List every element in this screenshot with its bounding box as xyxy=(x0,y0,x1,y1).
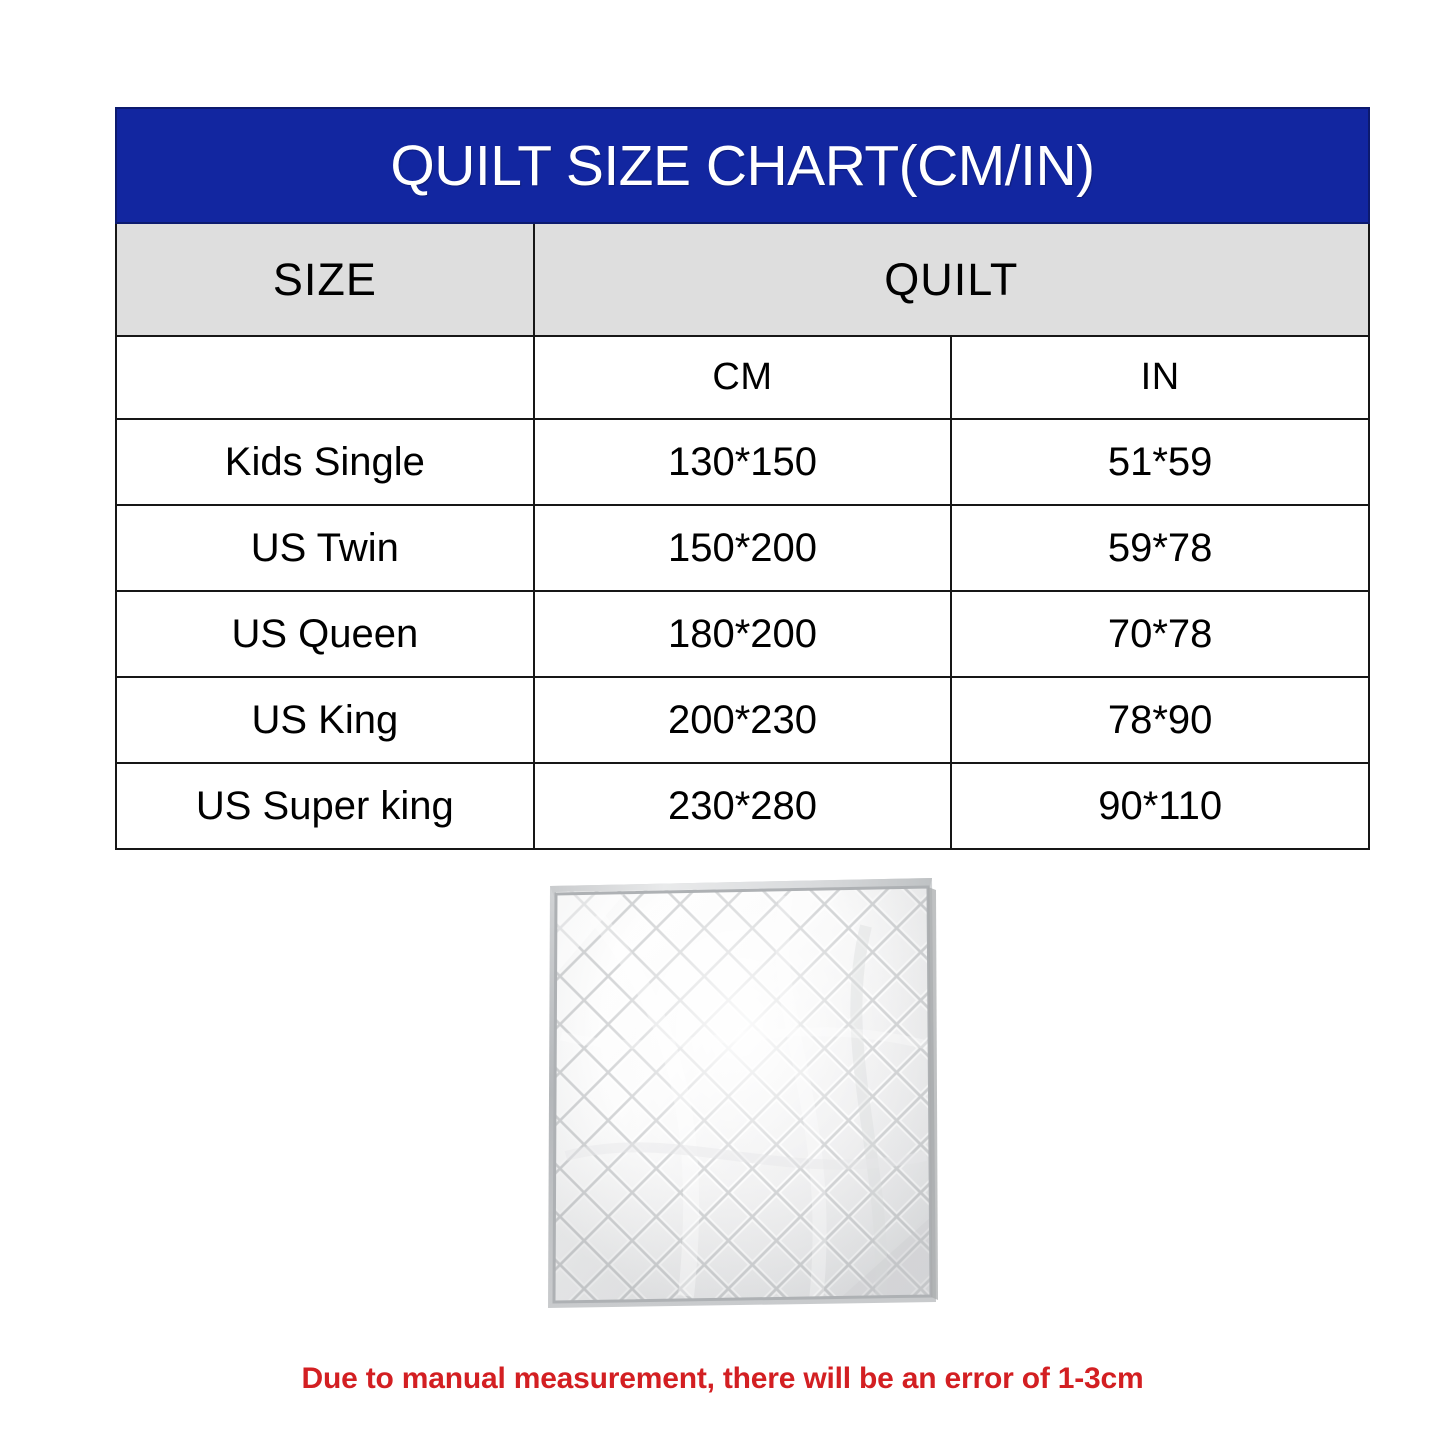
cell-cm: 180*200 xyxy=(534,591,952,677)
cell-in: 90*110 xyxy=(951,763,1369,849)
table-title-row: QUILT SIZE CHART(CM/IN) xyxy=(116,108,1369,223)
cell-size: US Twin xyxy=(116,505,534,591)
quilt-product-image xyxy=(536,856,944,1316)
column-header-quilt: QUILT xyxy=(534,223,1369,336)
column-header-in: IN xyxy=(951,336,1369,419)
cell-in: 78*90 xyxy=(951,677,1369,763)
table-row: US King 200*230 78*90 xyxy=(116,677,1369,763)
quilt-illustration xyxy=(536,856,944,1316)
table-group-header-row: SIZE QUILT xyxy=(116,223,1369,336)
table-row: US Super king 230*280 90*110 xyxy=(116,763,1369,849)
cell-size: US Super king xyxy=(116,763,534,849)
table-unit-header-row: CM IN xyxy=(116,336,1369,419)
cell-cm: 230*280 xyxy=(534,763,952,849)
quilt-size-chart-table: QUILT SIZE CHART(CM/IN) SIZE QUILT CM IN… xyxy=(115,107,1370,850)
size-chart-page: QUILT SIZE CHART(CM/IN) SIZE QUILT CM IN… xyxy=(0,0,1445,1445)
cell-in: 59*78 xyxy=(951,505,1369,591)
quilt-face xyxy=(536,856,944,1316)
chart-title: QUILT SIZE CHART(CM/IN) xyxy=(116,108,1369,223)
column-header-cm: CM xyxy=(534,336,952,419)
cell-cm: 130*150 xyxy=(534,419,952,505)
measurement-disclaimer: Due to manual measurement, there will be… xyxy=(0,1362,1445,1396)
cell-cm: 150*200 xyxy=(534,505,952,591)
cell-cm: 200*230 xyxy=(534,677,952,763)
cell-size: US Queen xyxy=(116,591,534,677)
column-header-size: SIZE xyxy=(116,223,534,336)
cell-in: 51*59 xyxy=(951,419,1369,505)
table-row: Kids Single 130*150 51*59 xyxy=(116,419,1369,505)
table-row: US Queen 180*200 70*78 xyxy=(116,591,1369,677)
cell-in: 70*78 xyxy=(951,591,1369,677)
column-header-blank xyxy=(116,336,534,419)
cell-size: Kids Single xyxy=(116,419,534,505)
cell-size: US King xyxy=(116,677,534,763)
table-row: US Twin 150*200 59*78 xyxy=(116,505,1369,591)
